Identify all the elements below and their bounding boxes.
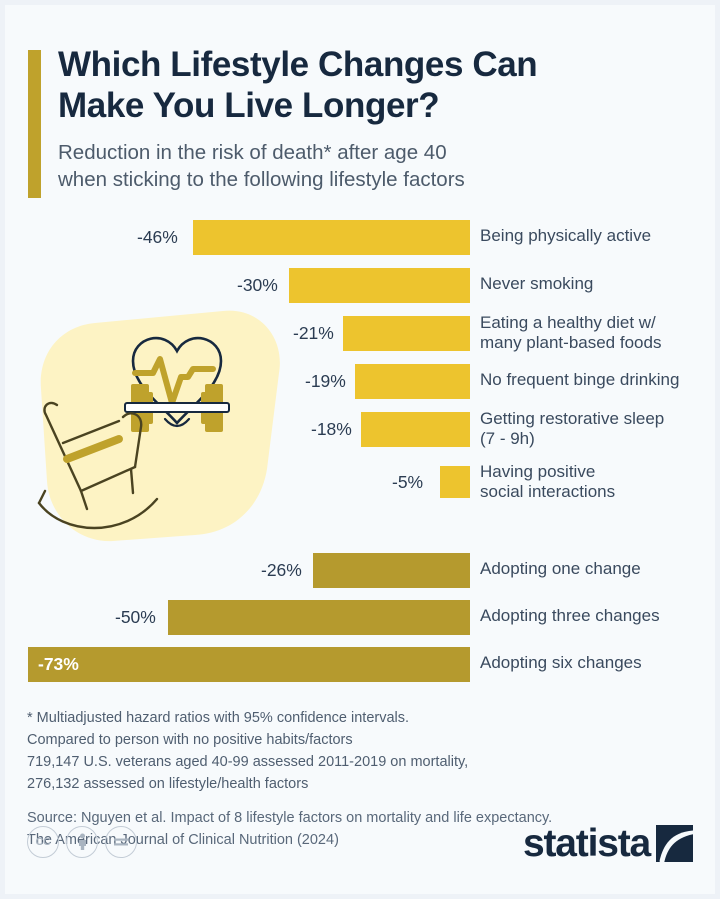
bar-fill [28,647,470,682]
bar-category-label: Eating a healthy diet w/ many plant-base… [480,313,661,353]
bar-value: -19% [305,364,346,399]
cc-no-derivatives-equals-icon[interactable] [105,826,137,858]
bar-value: -18% [311,412,352,447]
header: Which Lifestyle Changes Can Make You Liv… [28,45,695,193]
statista-wordmark: statista [523,824,650,863]
page-subtitle: Reduction in the risk of death* after ag… [58,139,695,194]
bar-value: -50% [115,600,156,635]
bar-value: -73% [38,647,79,682]
statista-mark-icon [656,825,693,862]
cc-icon[interactable]: CC [27,826,59,858]
bar-value: -26% [261,553,302,588]
bar-fill [343,316,470,351]
bar-fill [289,268,470,303]
footnote-text: * Multiadjusted hazard ratios with 95% c… [27,707,687,795]
bar-fill [313,553,470,588]
bar-category-label: Never smoking [480,274,593,294]
accent-bar [28,50,41,198]
bar-value: -30% [237,268,278,303]
page-title: Which Lifestyle Changes Can Make You Liv… [58,45,695,127]
bar-category-label: Getting restorative sleep (7 - 9h) [480,409,664,449]
bar-category-label: Adopting six changes [480,653,642,673]
bar-value: -21% [293,316,334,351]
footer: CC statista [27,824,693,868]
bar-value: -5% [392,466,423,498]
bar-fill [440,466,470,498]
lifestyle-illustration [27,293,297,551]
bar-fill [355,364,470,399]
creative-commons-icons[interactable]: CC [27,826,137,858]
bar-category-label: No frequent binge drinking [480,370,679,390]
bar-value: -46% [137,220,178,255]
bar-fill [168,600,470,635]
bar-category-label: Adopting one change [480,559,641,579]
bar-fill [361,412,470,447]
bar-category-label: Adopting three changes [480,606,660,626]
cc-attribution-person-icon[interactable] [66,826,98,858]
bar-category-label: Having positive social interactions [480,462,615,502]
cc-icon-label: CC [36,836,51,848]
yellow-blob-shape [41,311,280,541]
bar-fill [193,220,470,255]
statista-logo[interactable]: statista [523,824,693,863]
infographic-canvas: Which Lifestyle Changes Can Make You Liv… [0,0,720,899]
bar-category-label: Being physically active [480,226,651,246]
